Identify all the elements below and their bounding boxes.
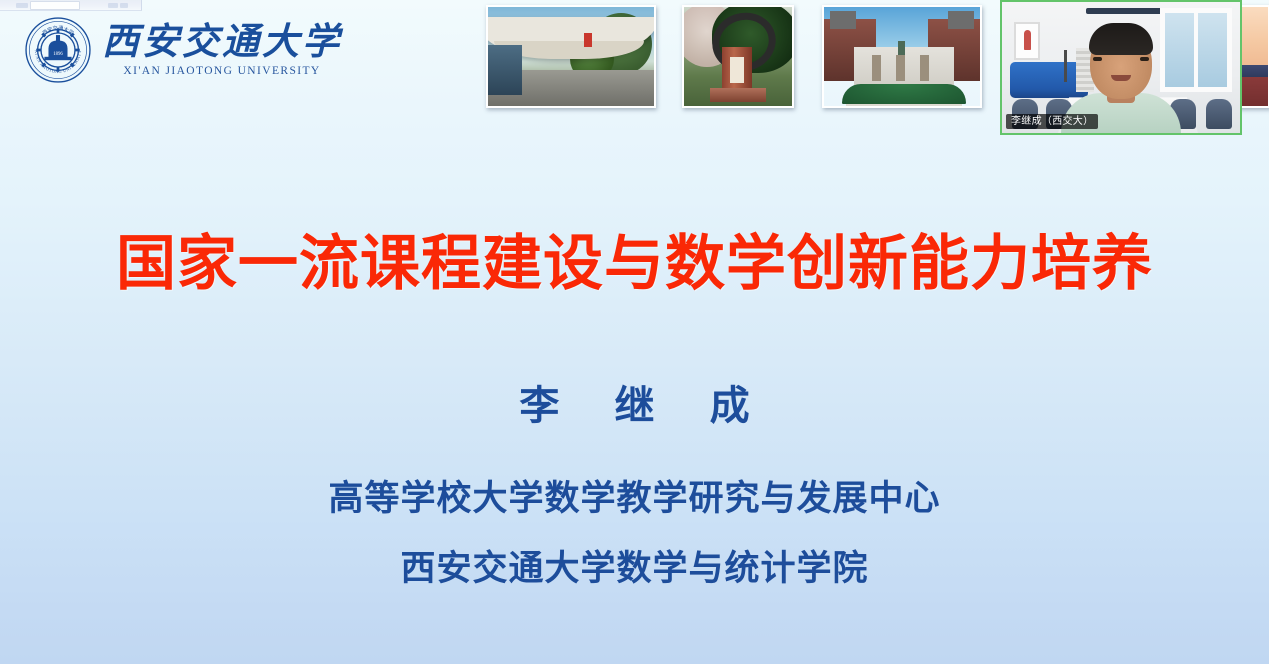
ceiling-light-icon xyxy=(1086,8,1168,14)
toolbar-chip-3 xyxy=(120,3,128,8)
logo-english-name: XI'AN JIAOTONG UNIVERSITY xyxy=(102,64,342,78)
university-logo-lockup: 1896 西安交通大学 XI'AN JIAOTONG UNIVERSITY 西安… xyxy=(24,16,342,84)
campus-photo-sundial-monument xyxy=(682,5,794,108)
toolbar-chip-2 xyxy=(108,3,118,8)
wall-art-decor xyxy=(1014,22,1040,60)
svg-text:1896: 1896 xyxy=(53,52,63,57)
partial-toolbar-remnant[interactable] xyxy=(0,0,142,11)
logo-chinese-name: 西安交通大学 xyxy=(102,23,342,63)
webcam-video-overlay[interactable]: 李继成（西交大） xyxy=(1000,0,1242,135)
slide-title: 国家一流课程建设与数学创新能力培养 xyxy=(0,228,1269,300)
toolbar-chip-1 xyxy=(16,3,28,8)
affiliation-line-2: 西安交通大学数学与统计学院 xyxy=(0,547,1269,591)
affiliation-line-1: 高等学校大学数学教学研究与发展中心 xyxy=(0,477,1269,521)
participant-name-label: 李继成（西交大） xyxy=(1006,114,1098,129)
campus-photo-main-gate xyxy=(486,5,656,108)
logo-wordmark: 西安交通大学 XI'AN JIAOTONG UNIVERSITY xyxy=(102,23,342,78)
presentation-slide: 李继成（西交大） xyxy=(0,0,1269,664)
toolbar-text-field[interactable] xyxy=(30,1,80,10)
xjtu-crest-icon: 1896 西安交通大学 XI'AN JIAOTONG UNIVERSITY xyxy=(24,16,92,84)
campus-photo-central-boulevard xyxy=(822,5,982,108)
chair-decor-4 xyxy=(1206,99,1232,129)
svg-text:西安交通大学: 西安交通大学 xyxy=(42,24,75,36)
presenter-name: 李 继 成 xyxy=(0,380,1269,432)
